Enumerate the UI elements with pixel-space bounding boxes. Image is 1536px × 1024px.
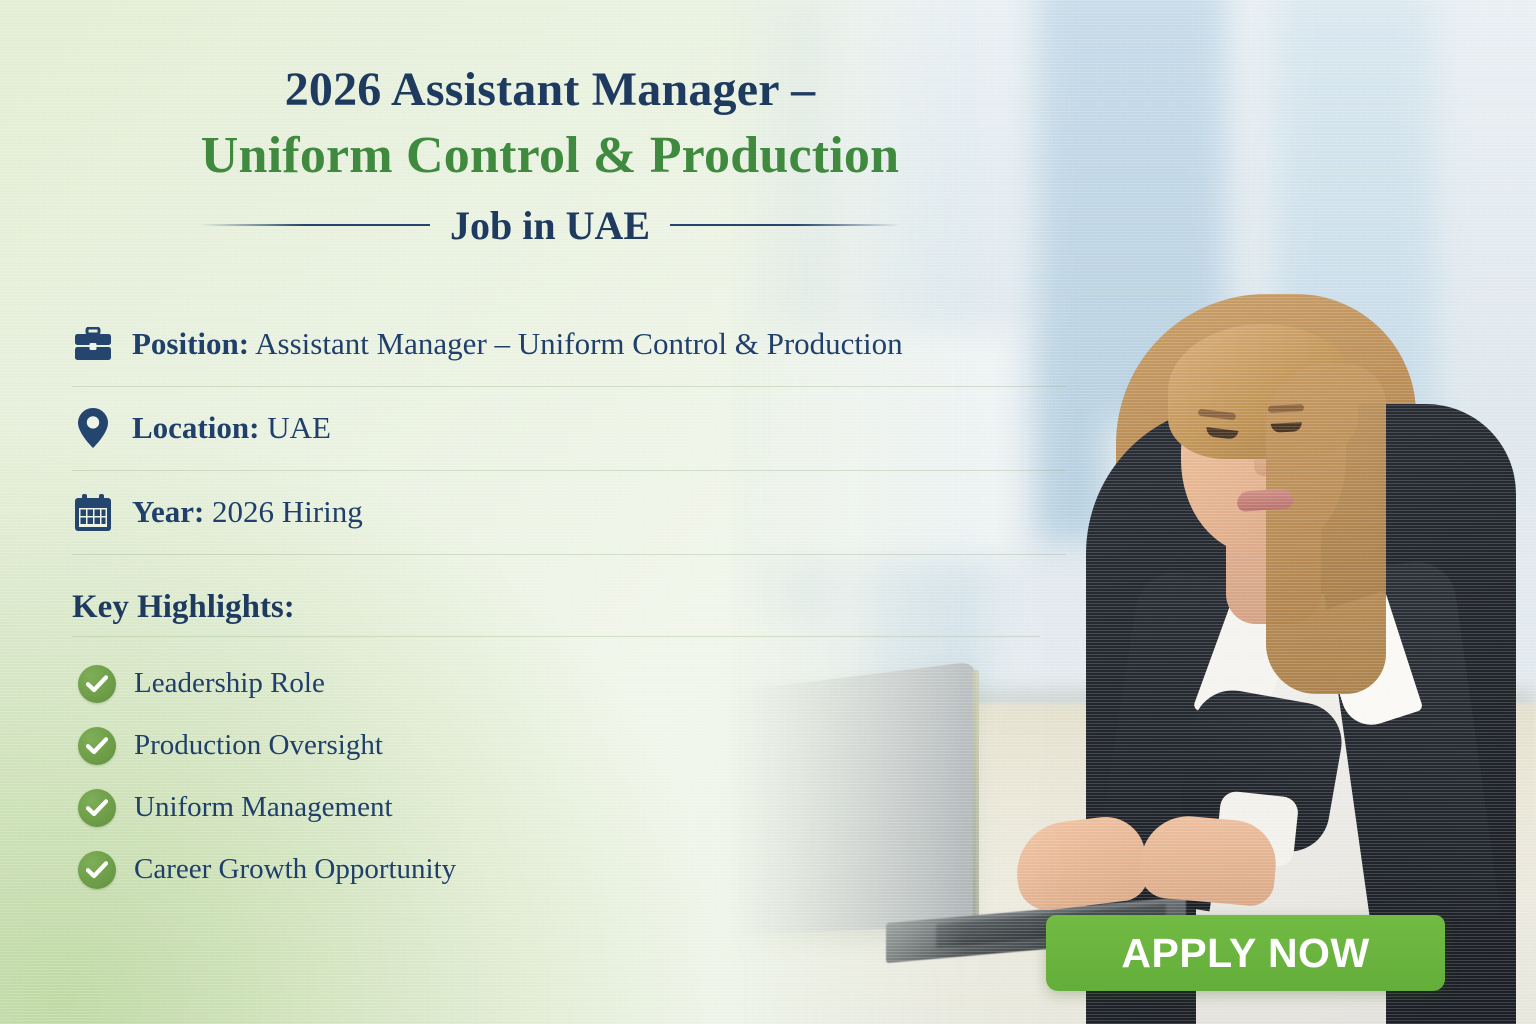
detail-row-position: Position: Assistant Manager – Uniform Co… bbox=[72, 303, 1066, 387]
detail-label-position: Position: bbox=[132, 326, 249, 361]
check-circle-icon bbox=[78, 727, 116, 765]
key-highlights-heading: Key Highlights: bbox=[72, 589, 1100, 626]
highlight-label: Leadership Role bbox=[134, 667, 325, 700]
key-highlights-divider bbox=[72, 636, 1040, 637]
highlight-item: Uniform Management bbox=[78, 777, 1100, 839]
detail-row-location: Location: UAE bbox=[72, 387, 1066, 471]
detail-text-position: Position: Assistant Manager – Uniform Co… bbox=[132, 327, 903, 361]
subtitle-row: Job in UAE bbox=[0, 202, 1100, 249]
subtitle-rule-left bbox=[200, 224, 430, 226]
detail-text-year: Year: 2026 Hiring bbox=[132, 495, 363, 529]
job-details-list: Position: Assistant Manager – Uniform Co… bbox=[0, 303, 1100, 555]
apply-now-label: APPLY NOW bbox=[1121, 930, 1369, 977]
detail-value-position: Assistant Manager – Uniform Control & Pr… bbox=[255, 326, 903, 361]
detail-label-location: Location: bbox=[132, 410, 259, 445]
highlight-item: Production Oversight bbox=[78, 715, 1100, 777]
detail-value-year: 2026 Hiring bbox=[212, 494, 363, 529]
title-line-2: Uniform Control & Production bbox=[0, 125, 1100, 186]
calendar-icon bbox=[72, 491, 114, 533]
highlight-item: Career Growth Opportunity bbox=[78, 839, 1100, 901]
apply-now-button[interactable]: APPLY NOW bbox=[1046, 915, 1445, 991]
job-poster: 2026 Assistant Manager – Uniform Control… bbox=[0, 0, 1536, 1024]
check-circle-icon bbox=[78, 789, 116, 827]
title-block: 2026 Assistant Manager – Uniform Control… bbox=[0, 0, 1100, 249]
highlight-label: Uniform Management bbox=[134, 791, 393, 824]
title-line-1: 2026 Assistant Manager – bbox=[0, 62, 1100, 119]
check-circle-icon bbox=[78, 851, 116, 889]
highlight-item: Leadership Role bbox=[78, 653, 1100, 715]
key-highlights-list: Leadership Role Production Oversight Uni… bbox=[78, 653, 1100, 901]
location-pin-icon bbox=[72, 407, 114, 449]
highlight-label: Production Oversight bbox=[134, 729, 383, 762]
briefcase-icon bbox=[72, 323, 114, 365]
check-circle-icon bbox=[78, 665, 116, 703]
subtitle-rule-right bbox=[670, 224, 900, 226]
detail-value-location: UAE bbox=[267, 410, 331, 445]
detail-text-location: Location: UAE bbox=[132, 411, 331, 445]
detail-label-year: Year: bbox=[132, 494, 204, 529]
title-line-3: Job in UAE bbox=[450, 202, 650, 249]
detail-row-year: Year: 2026 Hiring bbox=[72, 471, 1066, 555]
content-column: 2026 Assistant Manager – Uniform Control… bbox=[0, 0, 1100, 1024]
highlight-label: Career Growth Opportunity bbox=[134, 853, 456, 886]
